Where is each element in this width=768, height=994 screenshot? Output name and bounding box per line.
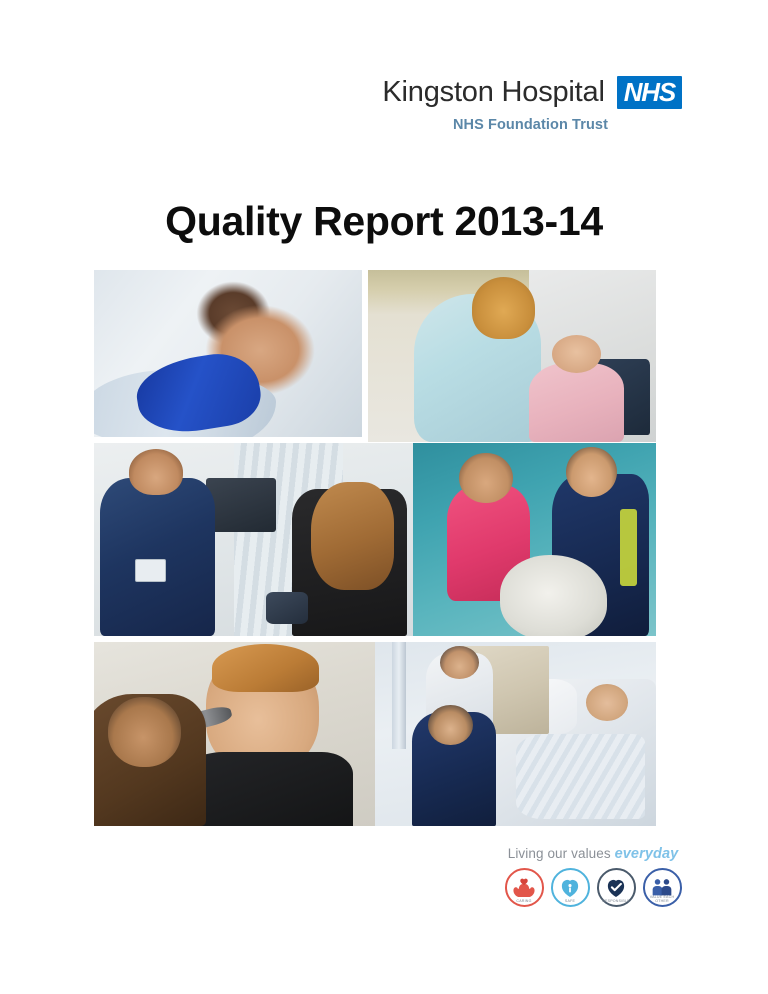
safe-value-icon: SAFE — [551, 868, 590, 907]
values-tagline-accent: everyday — [615, 846, 679, 862]
patient-gown — [516, 734, 645, 819]
nurse-uniform — [100, 478, 215, 636]
nurse-elderly-patient-photo: Nurse leaning over smiling elderly woman… — [368, 270, 656, 442]
safe-value-label: SAFE — [553, 899, 588, 903]
nurse-seated-head — [428, 705, 473, 745]
newborn-baby-photo: Newborn baby sleeping wrapped in a blue … — [94, 270, 362, 437]
nurse-standing-head — [440, 646, 479, 679]
values-tagline-main: Living our values — [508, 846, 611, 861]
bedside-care-photo: Two nurses caring for an elderly patient… — [375, 642, 656, 826]
elderly-scene — [368, 270, 656, 442]
nurse-uniform-stripe — [620, 509, 637, 586]
values-tagline: Living our values everyday — [498, 846, 688, 862]
heart-shield-icon — [557, 875, 583, 901]
responsible-value-icon: RESPONSIBLE — [597, 868, 636, 907]
clinician-head — [108, 697, 181, 767]
bed-patient-head — [586, 684, 628, 721]
living-our-values-block: Living our values everyday CARING SAFE — [498, 846, 688, 907]
child-ward-photo: Young child in pink top with nurse holdi… — [413, 443, 656, 636]
nurse-head — [129, 449, 183, 495]
heart-tick-icon — [603, 875, 629, 901]
value-each-other-value-label: VALUE EACH OTHER — [645, 895, 680, 903]
heart-in-hands-icon — [511, 875, 537, 901]
page-title: Quality Report 2013-14 — [0, 198, 768, 245]
trust-subtitle: NHS Foundation Trust — [382, 118, 608, 133]
nhs-logo-text: NHS — [624, 79, 675, 105]
elderly-patient-figure — [529, 363, 624, 442]
nurse-id-badge — [135, 559, 166, 582]
ear-examination-photo: Clinician examining a man's ear with an … — [94, 642, 375, 826]
photo-collage: Newborn baby sleeping wrapped in a blue … — [94, 270, 656, 826]
logo-row: Kingston Hospital NHS — [382, 76, 682, 109]
value-each-other-value-icon: VALUE EACH OTHER — [643, 868, 682, 907]
values-icon-row: CARING SAFE RESPONSIBLE VA — [498, 868, 688, 907]
child-head — [459, 453, 512, 503]
trust-name: Kingston Hospital — [382, 78, 604, 107]
paediatric-nurse-head — [566, 447, 617, 497]
blood-pressure-scene — [94, 443, 413, 636]
bedside-scene — [375, 642, 656, 826]
vitals-monitor — [206, 478, 276, 532]
patient-hair — [311, 482, 394, 590]
ear-exam-scene — [94, 642, 375, 826]
responsible-value-label: RESPONSIBLE — [599, 899, 634, 903]
caring-value-icon: CARING — [505, 868, 544, 907]
nhs-trust-logo: Kingston Hospital NHS NHS Foundation Tru… — [382, 76, 682, 133]
child-ward-scene — [413, 443, 656, 636]
baby-scene — [94, 270, 362, 437]
blood-pressure-photo: Nurse in blue uniform taking a patient's… — [94, 443, 413, 636]
caring-value-label: CARING — [507, 899, 542, 903]
nurse-hair — [472, 277, 535, 339]
patient-hair — [212, 644, 319, 692]
blood-pressure-cuff — [266, 592, 307, 625]
iv-pole — [392, 642, 406, 749]
nhs-logo-box: NHS — [617, 76, 682, 109]
